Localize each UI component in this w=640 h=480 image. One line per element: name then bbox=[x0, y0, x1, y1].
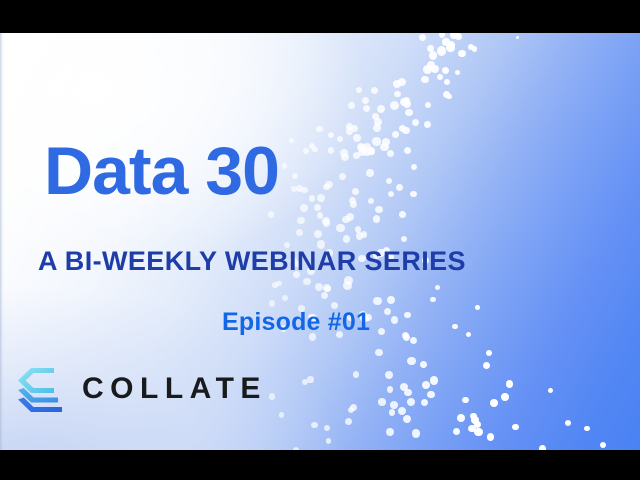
brand-wordmark: COLLATE bbox=[82, 374, 267, 404]
title-slide: Data 30 A BI-WEEKLY WEBINAR SERIES Episo… bbox=[0, 33, 640, 450]
slide-title: Data 30 bbox=[44, 137, 279, 205]
brand-logo-lockup: COLLATE bbox=[14, 363, 267, 415]
slide-content: Data 30 A BI-WEEKLY WEBINAR SERIES Episo… bbox=[0, 33, 640, 450]
stacked-layers-icon bbox=[14, 363, 66, 415]
letterbox-top-bar bbox=[0, 0, 640, 33]
letterbox-bottom-bar bbox=[0, 450, 640, 480]
video-frame: Data 30 A BI-WEEKLY WEBINAR SERIES Episo… bbox=[0, 0, 640, 480]
slide-subtitle: A BI-WEEKLY WEBINAR SERIES bbox=[38, 248, 466, 275]
episode-label: Episode #01 bbox=[222, 310, 370, 335]
